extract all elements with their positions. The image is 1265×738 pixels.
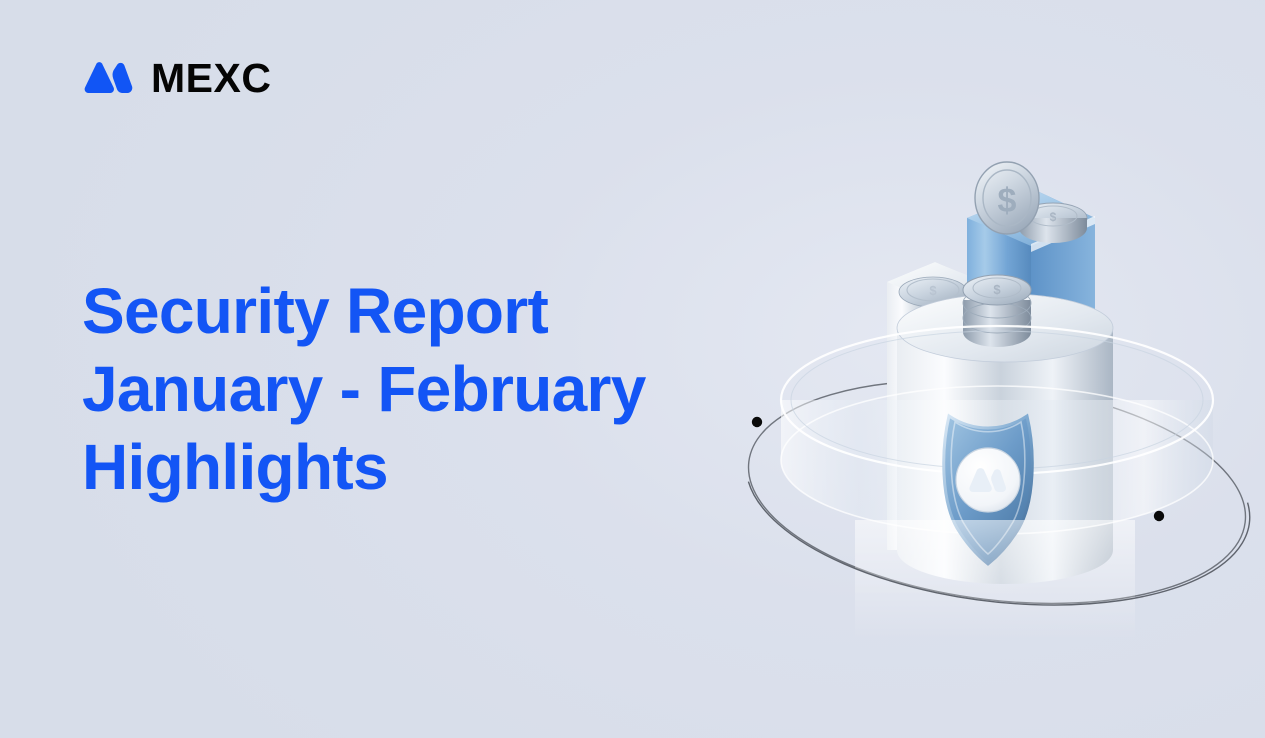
headline-line-2: January - February [82, 350, 782, 428]
svg-text:$: $ [993, 282, 1001, 297]
orbit-dot-right [1154, 511, 1164, 521]
mexc-logo-mark-icon [80, 61, 134, 95]
security-illustration: $ $ $ [735, 150, 1255, 600]
svg-text:$: $ [1050, 210, 1057, 224]
headline-line-1: Security Report [82, 272, 782, 350]
mexc-logo[interactable]: MEXC [80, 54, 271, 102]
headline-line-3: Highlights [82, 428, 782, 506]
mexc-logo-text: MEXC [151, 58, 271, 99]
orbit-dot-left [752, 417, 762, 427]
svg-text:$: $ [998, 182, 1017, 220]
coin-stack-front: $ [963, 275, 1031, 347]
security-report-banner: MEXC Security Report January - February … [0, 0, 1265, 738]
ground-reflection [855, 520, 1135, 640]
svg-text:$: $ [929, 283, 937, 298]
coin-upright-dollar: $ [975, 162, 1039, 234]
page-title: Security Report January - February Highl… [82, 272, 782, 506]
